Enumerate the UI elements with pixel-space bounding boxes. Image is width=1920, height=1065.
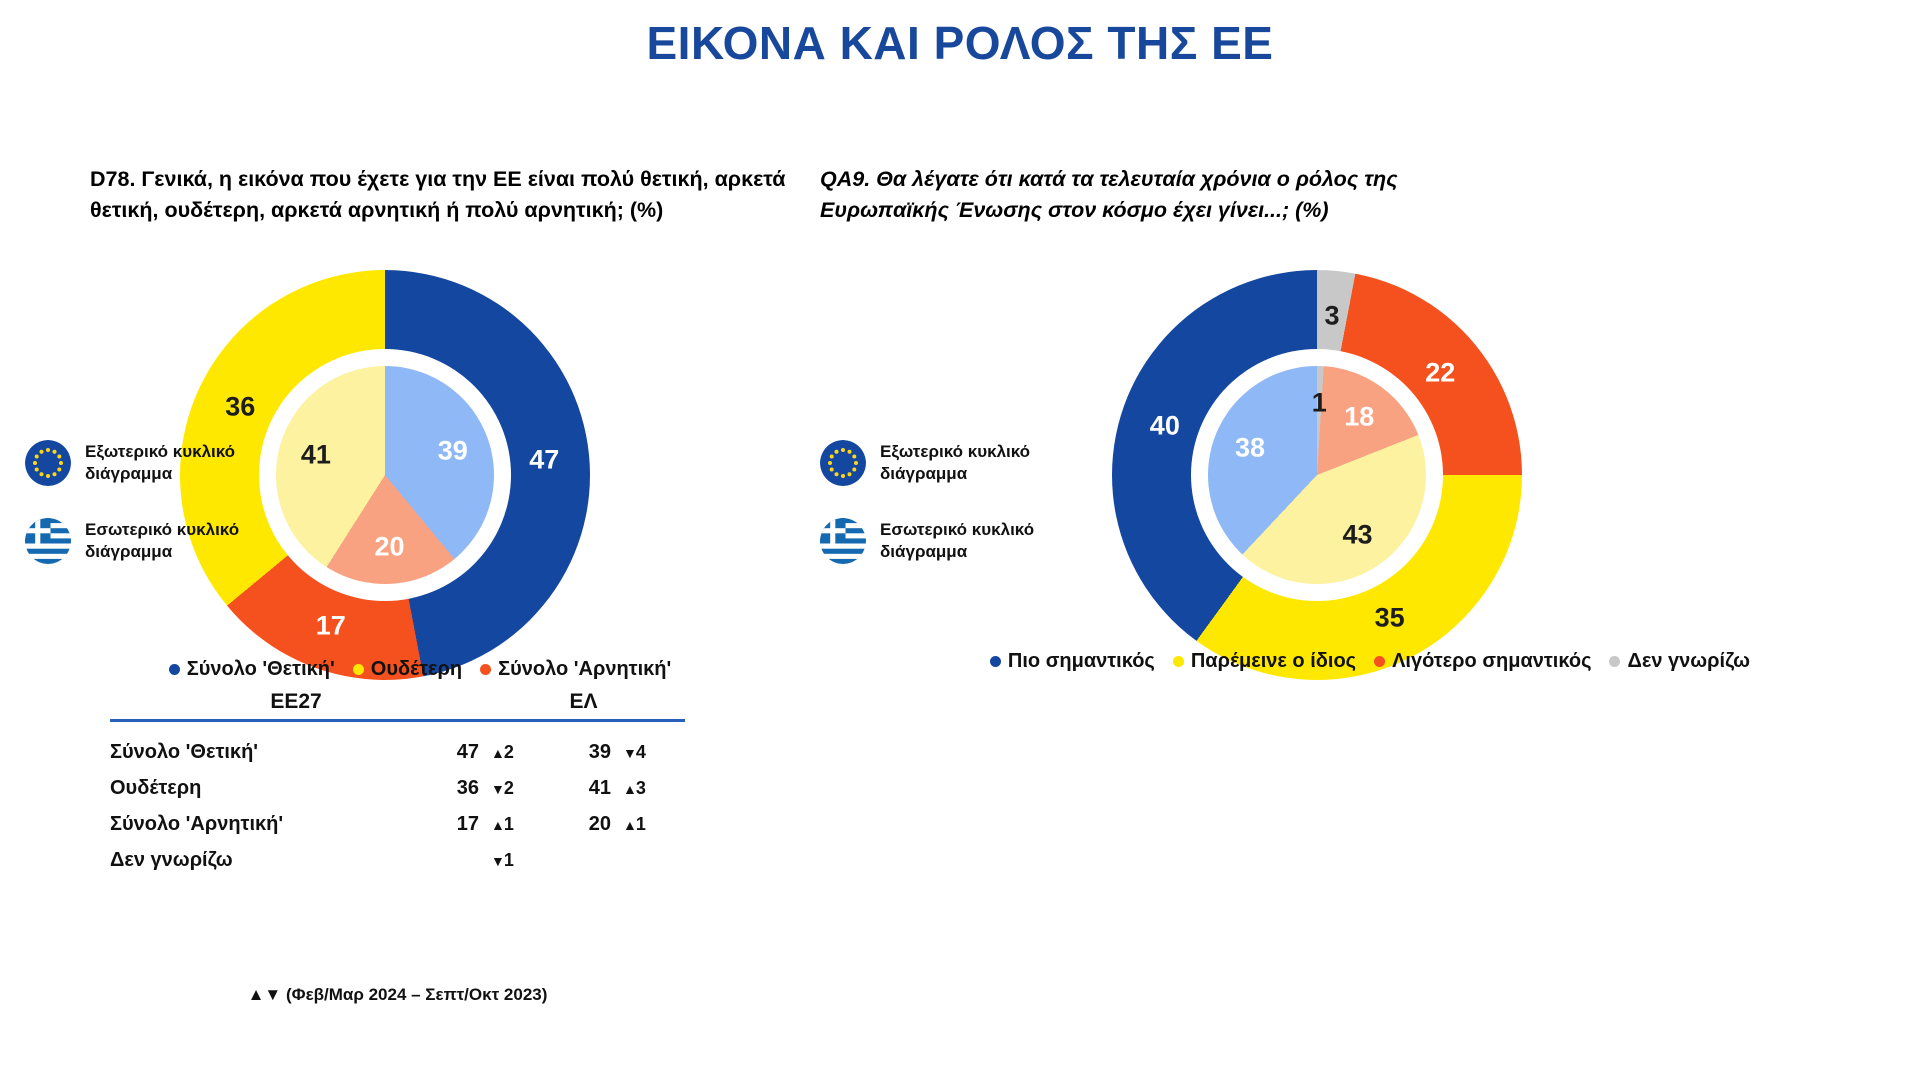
table-row: Δεν γνωρίζω▼1 <box>110 842 685 878</box>
left-legend-item[interactable]: Ουδέτερη <box>353 658 462 681</box>
left-legend-outer: Εξωτερικό κυκλικό διάγραμμα <box>25 440 260 486</box>
table-cell-el-value: 39 <box>553 734 611 770</box>
right-legend-item[interactable]: Λιγότερο σημαντικός <box>1374 650 1591 673</box>
eu-flag-icon <box>25 440 71 486</box>
table-row: Σύνολο 'Αρνητική'17▲120▲1 <box>110 806 685 842</box>
table-cell-eu-value <box>421 842 479 878</box>
legend-label: Παρέμεινε ο ίδιος <box>1191 650 1356 673</box>
legend-color-dot <box>353 664 364 675</box>
table-cell-eu-delta: ▼1 <box>479 842 553 878</box>
table-cell-eu-delta: ▼2 <box>479 770 553 806</box>
left-legend-inner: Εσωτερικό κυκλικό διάγραμμα <box>25 518 260 564</box>
table-row: Ουδέτερη36▼241▲3 <box>110 770 685 806</box>
legend-label: Ουδέτερη <box>371 658 462 681</box>
legend-color-dot <box>990 656 1001 667</box>
greece-flag-icon <box>25 518 71 564</box>
table-header-eu: EE27 <box>110 690 482 719</box>
table-footnote: ▲▼ (Φεβ/Μαρ 2024 – Σεπτ/Οκτ 2023) <box>110 985 685 1005</box>
table-row-label: Σύνολο 'Θετική' <box>110 734 421 770</box>
page-title: ΕΙΚΟΝΑ ΚΑΙ ΡΟΛΟΣ ΤΗΣ ΕΕ <box>0 16 1920 70</box>
legend-color-dot <box>1374 656 1385 667</box>
legend-color-dot <box>480 664 491 675</box>
left-category-legend: Σύνολο 'Θετική'ΟυδέτερηΣύνολο 'Αρνητική' <box>60 658 780 681</box>
chart-qa9: 32235401184338 <box>1112 270 1522 680</box>
eu-flag-icon <box>820 440 866 486</box>
table-cell-el-delta <box>611 842 685 878</box>
table-cell-el-delta: ▼4 <box>611 734 685 770</box>
table-cell-eu-delta: ▲2 <box>479 734 553 770</box>
left-legend-item[interactable]: Σύνολο 'Θετική' <box>169 658 335 681</box>
right-legend-outer: Εξωτερικό κυκλικό διάγραμμα <box>820 440 1055 486</box>
right-outer-donut[interactable] <box>1112 270 1522 680</box>
table-row-label: Ουδέτερη <box>110 770 421 806</box>
legend-label: Πιο σημαντικός <box>1008 650 1155 673</box>
table-cell-eu-value: 17 <box>421 806 479 842</box>
table-cell-eu-delta: ▲1 <box>479 806 553 842</box>
comparison-table: EE27 ΕΛ Σύνολο 'Θετική'47▲239▼4Ουδέτερη3… <box>110 690 685 878</box>
table-cell-eu-value: 36 <box>421 770 479 806</box>
left-flag-legend: Εξωτερικό κυκλικό διάγραμμα <box>25 440 260 596</box>
table-cell-eu-value: 47 <box>421 734 479 770</box>
right-legend-item[interactable]: Παρέμεινε ο ίδιος <box>1173 650 1356 673</box>
legend-color-dot <box>1173 656 1184 667</box>
table-row: Σύνολο 'Θετική'47▲239▼4 <box>110 734 685 770</box>
legend-label: Σύνολο 'Αρνητική' <box>498 658 671 681</box>
legend-color-dot <box>1609 656 1620 667</box>
left-legend-inner-label: Εσωτερικό κυκλικό διάγραμμα <box>85 519 260 563</box>
table-row-label: Δεν γνωρίζω <box>110 842 421 878</box>
right-legend-inner: Εσωτερικό κυκλικό διάγραμμα <box>820 518 1055 564</box>
right-legend-inner-label: Εσωτερικό κυκλικό διάγραμμα <box>880 519 1055 563</box>
right-legend-item[interactable]: Δεν γνωρίζω <box>1609 650 1750 673</box>
greece-flag-icon <box>820 518 866 564</box>
legend-label: Λιγότερο σημαντικός <box>1392 650 1591 673</box>
right-flag-legend: Εξωτερικό κυκλικό διάγραμμα <box>820 440 1055 596</box>
table-cell-el-delta: ▲1 <box>611 806 685 842</box>
right-inner-pie[interactable] <box>1208 366 1426 584</box>
right-legend-outer-label: Εξωτερικό κυκλικό διάγραμμα <box>880 441 1055 485</box>
table-row-label: Σύνολο 'Αρνητική' <box>110 806 421 842</box>
table-cell-el-delta: ▲3 <box>611 770 685 806</box>
legend-label: Δεν γνωρίζω <box>1627 650 1750 673</box>
question-qa9: QA9. Θα λέγατε ότι κατά τα τελευταία χρό… <box>820 164 1500 225</box>
right-category-legend: Πιο σημαντικόςΠαρέμεινε ο ίδιοςΛιγότερο … <box>840 650 1900 673</box>
table-body: Σύνολο 'Θετική'47▲239▼4Ουδέτερη36▼241▲3Σ… <box>110 734 685 878</box>
table-rule <box>110 719 685 722</box>
right-legend-item[interactable]: Πιο σημαντικός <box>990 650 1155 673</box>
table-cell-el-value: 20 <box>553 806 611 842</box>
question-d78: D78. Γενικά, η εικόνα που έχετε για την … <box>90 164 790 225</box>
left-inner-pie[interactable] <box>276 366 494 584</box>
left-legend-item[interactable]: Σύνολο 'Αρνητική' <box>480 658 671 681</box>
legend-label: Σύνολο 'Θετική' <box>187 658 335 681</box>
table-cell-el-value: 41 <box>553 770 611 806</box>
infographic-page: ΕΙΚΟΝΑ ΚΑΙ ΡΟΛΟΣ ΤΗΣ ΕΕ D78. Γενικά, η ε… <box>0 0 1920 1065</box>
table-cell-el-value <box>553 842 611 878</box>
left-legend-outer-label: Εξωτερικό κυκλικό διάγραμμα <box>85 441 260 485</box>
table-header-el: ΕΛ <box>482 690 685 719</box>
legend-color-dot <box>169 664 180 675</box>
